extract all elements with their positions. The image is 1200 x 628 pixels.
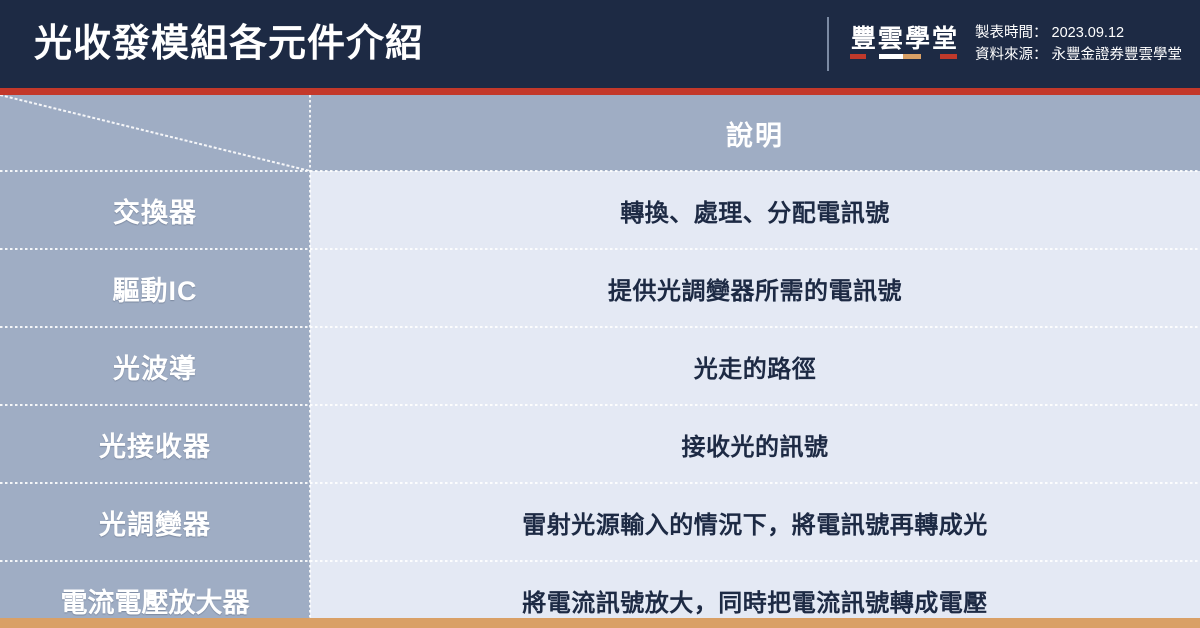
- component-table: 說明 交換器 轉換、處理、分配電訊號 驅動IC 提供光調變器所需的電訊號 光波導…: [0, 95, 1200, 618]
- slide-canvas: 光收發模組各元件介紹 豐 雲 學 堂 製表時間： 2023.09.12 資料來源…: [0, 0, 1200, 628]
- table-row-label: 交換器: [0, 171, 310, 249]
- table-row-description: 提供光調變器所需的電訊號: [310, 249, 1200, 327]
- page-title: 光收發模組各元件介紹: [34, 25, 424, 63]
- table-row-label: 光調變器: [0, 483, 310, 561]
- meta-block: 製表時間： 2023.09.12 資料來源： 永豐金證券豐雲學堂: [975, 22, 1182, 67]
- table-row-description: 雷射光源輸入的情況下，將電訊號再轉成光: [310, 483, 1200, 561]
- table-row-label: 光波導: [0, 327, 310, 405]
- table-row-label: 光接收器: [0, 405, 310, 483]
- diagonal-line-icon: [0, 95, 310, 171]
- brand-char-3: 學: [905, 27, 930, 59]
- brand-char-4: 堂: [932, 27, 957, 59]
- brand-char-2: 雲: [878, 27, 903, 59]
- footer-accent-rule: [0, 618, 1200, 628]
- created-time-row: 製表時間： 2023.09.12: [975, 22, 1182, 44]
- header-accent-rule: [0, 88, 1200, 95]
- column-header-description: 說明: [310, 95, 1200, 171]
- source-value: 永豐金證券豐雲學堂: [1052, 47, 1183, 63]
- brand-char-1: 豐: [851, 27, 876, 59]
- source-label: 資料來源：: [975, 47, 1048, 63]
- table-row-description: 接收光的訊號: [310, 405, 1200, 483]
- table-row-label: 驅動IC: [0, 249, 310, 327]
- page-header: 光收發模組各元件介紹 豐 雲 學 堂 製表時間： 2023.09.12 資料來源…: [0, 0, 1200, 88]
- corner-diagonal-cell: [0, 95, 310, 171]
- created-time-value: 2023.09.12: [1052, 25, 1125, 41]
- brand-logo: 豐 雲 學 堂: [851, 27, 959, 59]
- header-divider: [827, 17, 829, 71]
- header-meta-group: 豐 雲 學 堂 製表時間： 2023.09.12 資料來源： 永豐金證券豐雲學堂: [827, 0, 1182, 88]
- created-time-label: 製表時間：: [975, 25, 1048, 41]
- table-row-description: 光走的路徑: [310, 327, 1200, 405]
- source-row: 資料來源： 永豐金證券豐雲學堂: [975, 44, 1182, 66]
- table-row-description: 轉換、處理、分配電訊號: [310, 171, 1200, 249]
